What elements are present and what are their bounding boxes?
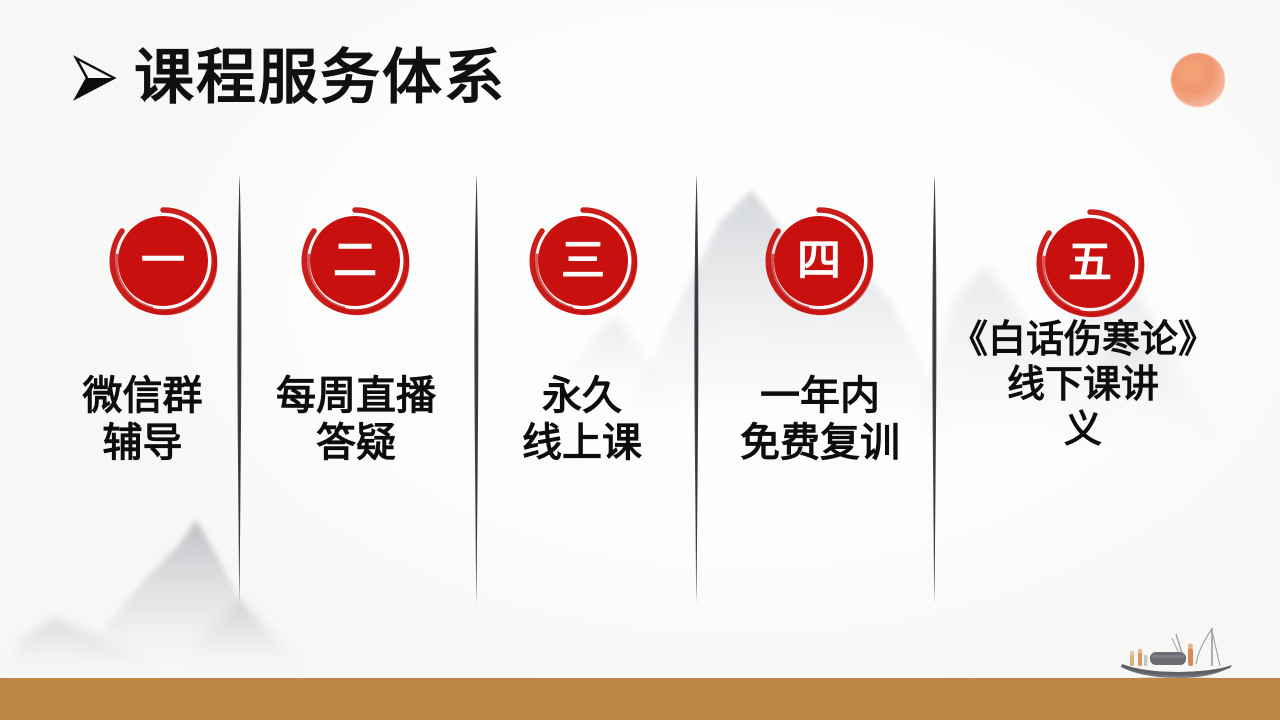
service-label-2: 每周直播 答疑 xyxy=(260,372,452,466)
service-label-1: 微信群 辅导 xyxy=(60,372,225,466)
column-divider-1 xyxy=(232,174,248,604)
badge-numeral-one: 一 xyxy=(105,203,221,319)
chinese-sailing-boat-illustration xyxy=(1112,622,1240,684)
service-label-5-line-1: 《白话伤寒论》 xyxy=(930,318,1236,363)
service-label-4: 一年内 免费复训 xyxy=(722,372,918,466)
badge-circle-four: 四 xyxy=(761,203,877,319)
badge-circle-two: 二 xyxy=(297,203,413,319)
badge-numeral-two: 二 xyxy=(297,203,413,319)
service-label-2-line-1: 每周直播 xyxy=(260,372,452,419)
service-label-3-line-1: 永久 xyxy=(487,372,677,419)
column-divider-3 xyxy=(689,174,705,604)
service-label-1-line-1: 微信群 xyxy=(60,372,225,419)
ink-wash-foreground-mountain xyxy=(0,478,1280,678)
badge-numeral-five: 五 xyxy=(1032,205,1148,321)
triangle-arrow-icon xyxy=(72,52,118,104)
service-label-1-line-2: 辅导 xyxy=(60,419,225,466)
service-label-5-line-3: 义 xyxy=(930,408,1236,453)
service-label-3: 永久 线上课 xyxy=(487,372,677,466)
service-label-4-line-2: 免费复训 xyxy=(722,419,918,466)
service-label-5: 《白话伤寒论》 线下课讲 义 xyxy=(930,318,1236,452)
sun-icon xyxy=(1171,53,1225,107)
service-label-3-line-2: 线上课 xyxy=(487,419,677,466)
service-label-2-line-2: 答疑 xyxy=(260,419,452,466)
page-title: 课程服务体系 xyxy=(72,48,506,108)
slide-canvas: 课程服务体系 xyxy=(0,0,1280,720)
column-divider-2 xyxy=(469,174,485,604)
page-title-text: 课程服务体系 xyxy=(134,48,506,108)
bottom-accent-bar xyxy=(0,678,1280,720)
badge-numeral-four: 四 xyxy=(761,203,877,319)
service-label-5-line-2: 线下课讲 xyxy=(930,363,1236,408)
badge-numeral-three: 三 xyxy=(525,203,641,319)
service-label-4-line-1: 一年内 xyxy=(722,372,918,419)
badge-circle-five: 五 xyxy=(1032,205,1148,321)
badge-circle-one: 一 xyxy=(105,203,221,319)
badge-circle-three: 三 xyxy=(525,203,641,319)
